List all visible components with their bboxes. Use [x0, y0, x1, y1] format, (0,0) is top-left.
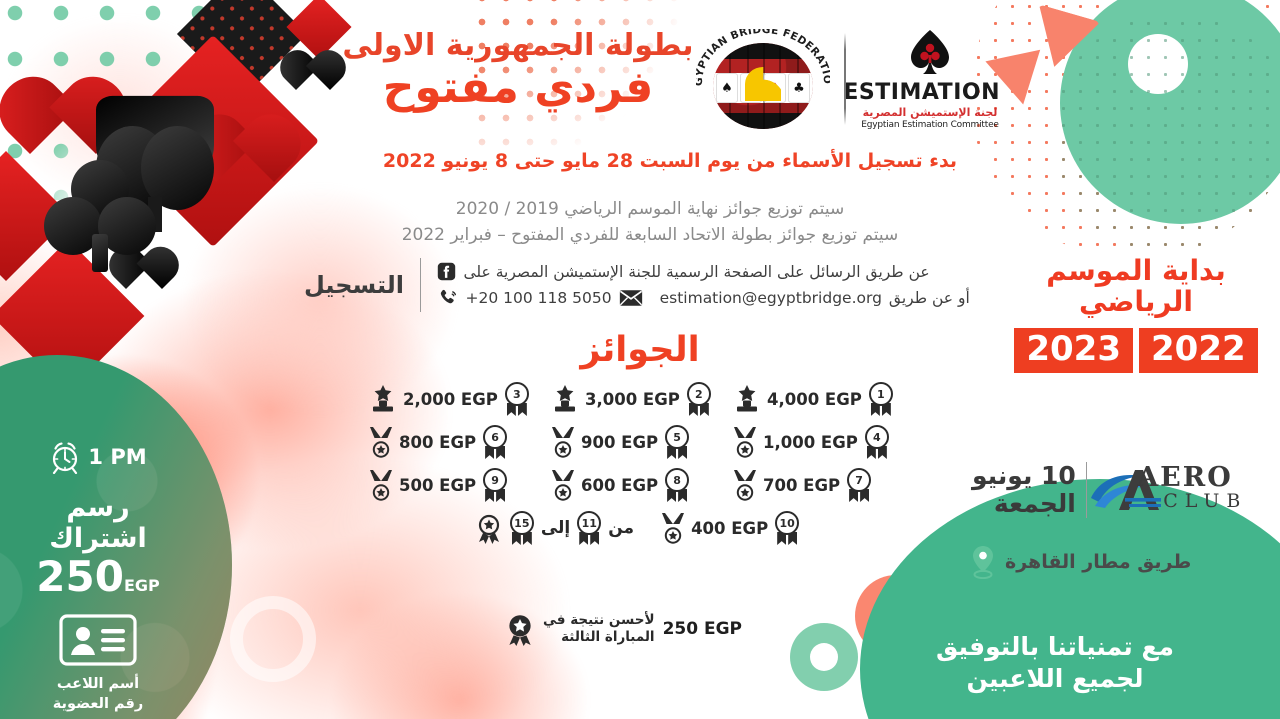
rosette-icon: [475, 512, 503, 544]
rank-number: 8: [665, 468, 689, 492]
aero-club-logo: AERO CLUB: [1097, 462, 1247, 518]
heart-suit-icon: [216, 128, 274, 182]
trophy-icon: [550, 384, 580, 414]
egyptian-bridge-federation-logo: EGYPTIAN BRIDGE FEDERATION ♣ ♦ ♥: [696, 29, 830, 129]
note-line-1: سيتم توزيع جوائز نهاية الموسم الرياضي 20…: [300, 196, 1000, 222]
medal-icon: [660, 512, 686, 544]
prize-amount: 600 EGP: [581, 476, 658, 495]
prize-amount: 4,000 EGP: [767, 390, 862, 409]
id-card-label-membership: رقم العضوية: [18, 694, 178, 714]
season-label: بداية الموسم الرياضي: [1020, 255, 1252, 318]
registration-divider: [420, 258, 422, 312]
season-label-line1: بداية الموسم: [1020, 255, 1252, 286]
medal-icon: [550, 426, 576, 458]
logo-divider: [844, 33, 846, 125]
prize-item: 600 EGP 8: [550, 468, 726, 502]
rank-ribbon-icon: 9: [481, 468, 509, 502]
entry-fee-amount: 250: [36, 556, 124, 598]
poster-canvas: بطولة الجمهورية الاولى فردي مفتوح EGYPTI…: [0, 0, 1280, 719]
registration-period-text: بدء تسجيل الأسماء من يوم السبت 28 مايو ح…: [340, 150, 1000, 172]
prize-range-item: 15 إلى 11 من: [475, 511, 634, 545]
aero-club-wordmark: AERO CLUB: [1137, 464, 1247, 511]
best-third-match-line1: لأحسن نتيجة في: [543, 612, 655, 629]
globe-graphic: ♣ ♦ ♥ ♠: [713, 43, 813, 129]
prize-amount: 700 EGP: [763, 476, 840, 495]
page-title-line2: فردي مفتوح: [340, 64, 696, 112]
venue-divider: [1086, 462, 1088, 518]
registration-email[interactable]: estimation@egyptbridge.org: [660, 289, 882, 307]
prize-item: 4,000 EGP 1: [732, 382, 908, 416]
trophy-icon: [732, 384, 762, 414]
prize-amount: 500 EGP: [399, 476, 476, 495]
rosette-icon: [505, 612, 535, 646]
venue-address: طريق مطار القاهرة: [1005, 551, 1191, 573]
spade-suit-icon: [909, 28, 951, 76]
prizes-title: الجوائز: [540, 330, 740, 370]
good-luck-line2: لجميع اللاعبين: [890, 663, 1220, 695]
id-card-labels: أسم اللاعب رقم العضوية: [18, 674, 178, 715]
entry-fee-currency: EGP: [124, 576, 160, 595]
id-card-row: [18, 614, 178, 666]
prize-item: 900 EGP 5: [550, 425, 726, 459]
rank-ribbon-icon: 5: [663, 425, 691, 459]
prize-item: 500 EGP 9: [368, 468, 544, 502]
medal-icon: [550, 469, 576, 501]
rank-ribbon-icon: 11: [575, 511, 603, 545]
medal-icon: [732, 469, 758, 501]
registration-or-text: أو عن طريق: [889, 289, 970, 307]
location-pin-icon: [970, 545, 996, 579]
prize-amount: 900 EGP: [581, 433, 658, 452]
eagle-emblem-icon: [745, 67, 781, 101]
registration-details: عن طريق الرسائل على الصفحة الرسمية للجنة…: [437, 262, 1000, 308]
estimation-english-subtitle: Egyptian Estimation Committee: [860, 120, 1000, 130]
prize-item: 1,000 EGP 4: [732, 425, 908, 459]
rank-number: 11: [577, 511, 601, 535]
title-block: بطولة الجمهورية الاولى فردي مفتوح: [340, 24, 696, 112]
estimation-wordmark: ESTIMATION: [860, 82, 1000, 104]
venue-date-line2: الجمعة: [972, 490, 1076, 518]
rank-ribbon-icon: 3: [503, 382, 531, 416]
estimation-arabic-subtitle: لجنة الإستميشن المصرية: [860, 106, 1000, 119]
prizes-list: 2,000 EGP 3 3,000 EGP 2: [368, 382, 908, 545]
page-title-line1: بطولة الجمهورية الاولى: [340, 30, 696, 62]
season-block: بداية الموسم الرياضي 2023 2022: [1020, 255, 1252, 373]
facebook-icon[interactable]: [437, 262, 456, 281]
id-card-icon: [59, 614, 137, 666]
venue-block: 10 يونيو الجمعة AERO CLUB: [972, 462, 1262, 518]
rank-ribbon-icon: 2: [685, 382, 713, 416]
prize-row: 500 EGP 9 600 EGP 8: [368, 468, 908, 502]
rank-number: 1: [869, 382, 893, 406]
rank-number: 9: [483, 468, 507, 492]
prize-distribution-notes: سيتم توزيع جوائز نهاية الموسم الرياضي 20…: [300, 196, 1000, 249]
best-third-match-line2: المباراة الثالثة: [543, 629, 655, 646]
club-suit-icon: ♣: [788, 73, 810, 103]
rank-number: 5: [665, 425, 689, 449]
prize-row: 2,000 EGP 3 3,000 EGP 2: [368, 382, 908, 416]
phone-icon[interactable]: [437, 287, 458, 308]
medal-icon: [368, 469, 394, 501]
registration-block: التسجيل عن طريق الرسائل على الصفحة الرسم…: [300, 258, 1000, 312]
registration-facebook-text: عن طريق الرسائل على الصفحة الرسمية للجنة…: [463, 263, 929, 281]
prize-amount: 400 EGP: [691, 519, 768, 538]
rank-number: 4: [865, 425, 889, 449]
rank-number: 3: [505, 382, 529, 406]
start-time-row: 1 PM: [18, 440, 178, 474]
best-third-match-amount: 250 EGP: [663, 619, 742, 639]
venue-address-block: طريق مطار القاهرة: [970, 545, 1250, 579]
medal-icon: [732, 426, 758, 458]
rank-number: 7: [847, 468, 871, 492]
entry-fee-label: رسم اشتراك: [18, 492, 178, 554]
aero-word: AERO: [1137, 464, 1247, 491]
start-time-value: 1 PM: [88, 445, 146, 469]
rank-ribbon-icon: 15: [508, 511, 536, 545]
heart-suit-icon: [296, 58, 330, 90]
range-to-word: إلى: [541, 518, 570, 538]
venue-date: 10 يونيو الجمعة: [972, 462, 1076, 518]
rank-number: 2: [687, 382, 711, 406]
rank-number: 6: [483, 425, 507, 449]
rank-number: 15: [510, 511, 534, 535]
prize-amount: 1,000 EGP: [763, 433, 858, 452]
estimation-logo: ESTIMATION لجنة الإستميشن المصرية Egypti…: [860, 28, 1000, 130]
season-year-right: 2022: [1139, 328, 1258, 373]
venue-date-line1: 10 يونيو: [972, 462, 1076, 490]
registration-contact-row: +20 100 118 5050 estimation@egyptbridge.…: [437, 287, 969, 308]
club-suit-icon: [44, 160, 156, 272]
club-word: CLUB: [1137, 492, 1247, 511]
prize-amount: 3,000 EGP: [585, 390, 680, 409]
prize-amount: 2,000 EGP: [403, 390, 498, 409]
rank-ribbon-icon: 8: [663, 468, 691, 502]
green-ring-decoration: [790, 623, 858, 691]
rank-number: 10: [775, 511, 799, 535]
email-icon[interactable]: [619, 289, 643, 307]
prize-item: 700 EGP 7: [732, 468, 908, 502]
entry-fee-amount-row: 250 EGP: [18, 556, 178, 598]
prize-item: 800 EGP 6: [368, 425, 544, 459]
medal-icon: [368, 426, 394, 458]
range-from-word: من: [608, 518, 634, 538]
rank-ribbon-icon: 1: [867, 382, 895, 416]
green-donut-dot-overlay: [970, 0, 1280, 260]
good-luck-line1: مع تمنياتنا بالتوفيق: [890, 631, 1220, 663]
spade-suit-icon: ♠: [716, 73, 738, 103]
season-years: 2023 2022: [1020, 328, 1252, 373]
season-label-line2: الرياضي: [1020, 286, 1252, 317]
alarm-clock-icon: [49, 440, 81, 474]
good-luck-message: مع تمنياتنا بالتوفيق لجميع اللاعبين: [890, 631, 1220, 695]
trophy-icon: [368, 384, 398, 414]
best-third-match-label: لأحسن نتيجة في المباراة الثالثة: [543, 612, 655, 646]
fee-panel: 1 PM رسم اشتراك 250 EGP أسم اللاعب رقم ا…: [18, 440, 178, 715]
prize-item: 2,000 EGP 3: [368, 382, 544, 416]
prize-amount: 800 EGP: [399, 433, 476, 452]
best-third-match-prize: لأحسن نتيجة في المباراة الثالثة 250 EGP: [505, 612, 742, 646]
logo-group: EGYPTIAN BRIDGE FEDERATION ♣ ♦ ♥: [696, 24, 1000, 130]
registration-facebook-row: عن طريق الرسائل على الصفحة الرسمية للجنة…: [437, 262, 929, 281]
heart-suit-icon: [30, 92, 96, 154]
registration-phone[interactable]: +20 100 118 5050: [465, 289, 611, 307]
white-ring-decoration: [230, 596, 316, 682]
note-line-2: سيتم توزيع جوائز بطولة الاتحاد السابعة ل…: [300, 222, 1000, 248]
rank-ribbon-icon: 7: [845, 468, 873, 502]
registration-label: التسجيل: [300, 271, 404, 299]
prize-item: 3,000 EGP 2: [550, 382, 726, 416]
rank-ribbon-icon: 10: [773, 511, 801, 545]
rank-ribbon-icon: 4: [863, 425, 891, 459]
id-card-label-name: أسم اللاعب: [18, 674, 178, 694]
prize-row: 800 EGP 6 900 EGP 5: [368, 425, 908, 459]
rank-ribbon-icon: 6: [481, 425, 509, 459]
prize-range-row: 15 إلى 11 من 400 EGP 10: [368, 511, 908, 545]
season-year-left: 2023: [1014, 328, 1133, 373]
prize-item: 400 EGP 10: [660, 511, 801, 545]
